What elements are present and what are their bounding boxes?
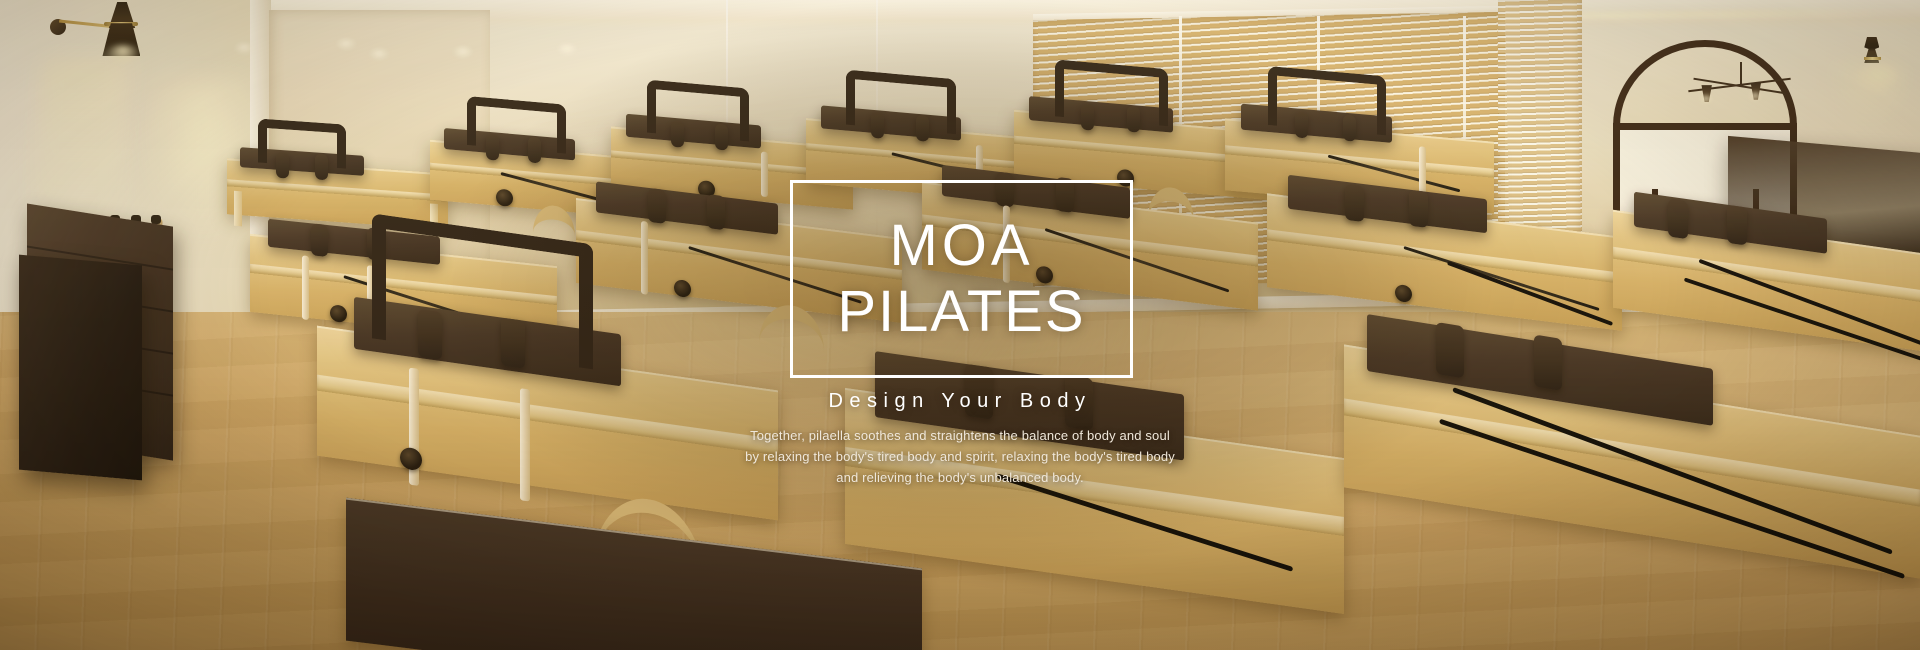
- hero-banner: MOA PILATES Design Your Body Together, p…: [0, 0, 1920, 650]
- brand-line-2: PILATES: [837, 283, 1085, 341]
- hero-description-line-1: Together, pilaella soothes and straighte…: [0, 425, 1920, 446]
- hero-overlay: MOA PILATES Design Your Body Together, p…: [0, 0, 1920, 650]
- hero-tagline: Design Your Body: [0, 390, 1920, 413]
- logo-frame: MOA PILATES: [790, 180, 1133, 378]
- brand-line-1: MOA: [889, 217, 1033, 275]
- hero-description-line-3: and relieving the body's unbalanced body…: [0, 467, 1920, 488]
- hero-description-line-2: by relaxing the body's tired body and sp…: [0, 446, 1920, 467]
- hero-description: Together, pilaella soothes and straighte…: [0, 425, 1920, 488]
